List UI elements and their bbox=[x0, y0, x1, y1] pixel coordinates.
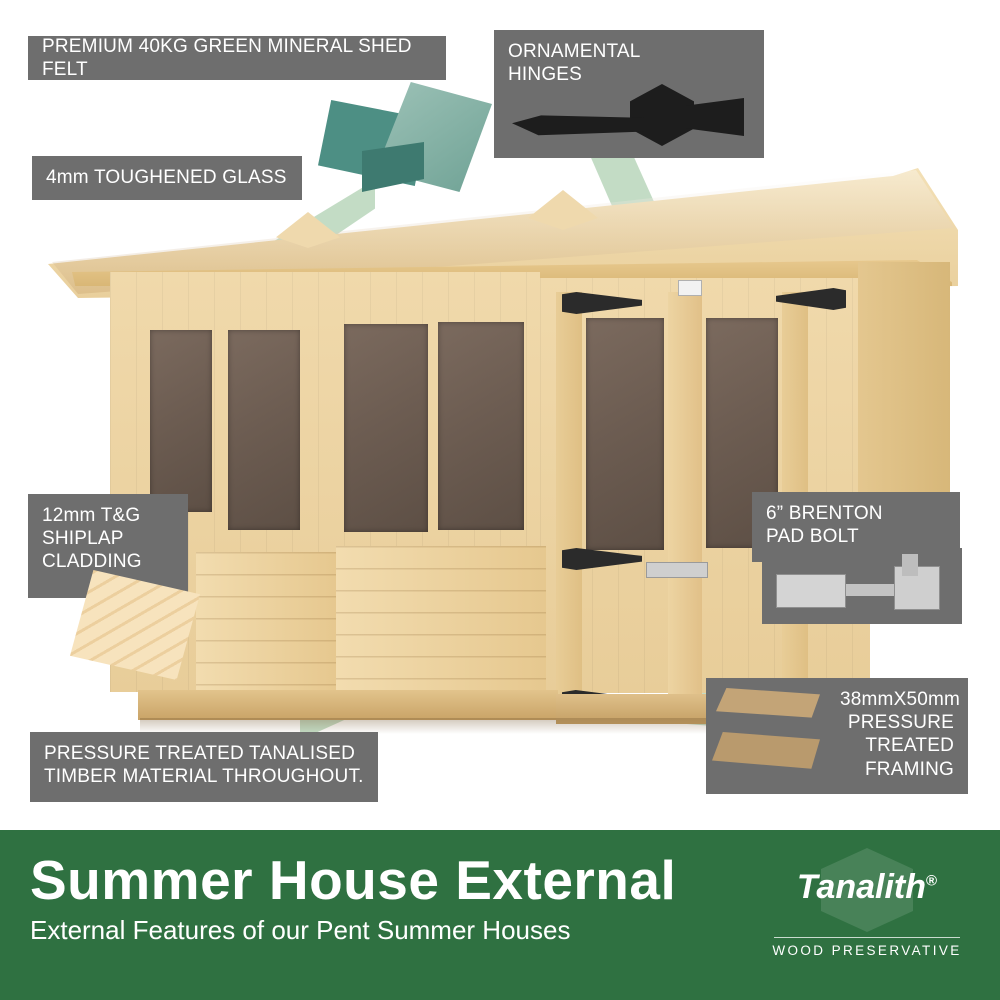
callout-felt: PREMIUM 40KG GREEN MINERAL SHED FELT bbox=[28, 36, 446, 80]
callout-treated-line2: TIMBER MATERIAL THROUGHOUT. bbox=[44, 765, 364, 788]
tanalith-divider bbox=[774, 937, 960, 938]
callout-hinges: ORNAMENTAL HINGES bbox=[494, 30, 764, 158]
shed-illustration: PREMIUM 40KG GREEN MINERAL SHED FELT ORN… bbox=[0, 0, 1000, 812]
lower-cladding-mid bbox=[336, 546, 546, 706]
cladding-board-image bbox=[70, 570, 200, 680]
floor-bearer-front bbox=[138, 690, 558, 720]
window-pane-4 bbox=[438, 322, 524, 530]
window-pane-3 bbox=[344, 324, 428, 532]
felt-roll-image bbox=[318, 82, 490, 194]
hinge-image bbox=[512, 80, 752, 152]
callout-padbolt-line2: PAD BOLT bbox=[766, 525, 946, 548]
callout-cladding-line2: SHIPLAP bbox=[42, 527, 174, 550]
framing-timber-image bbox=[710, 682, 822, 790]
tanalith-subtitle: WOOD PRESERVATIVE bbox=[762, 943, 972, 958]
callout-framing-line1: 38mmX50mm bbox=[840, 688, 954, 711]
door-stile-mid bbox=[668, 292, 702, 712]
door-pane-left bbox=[586, 318, 664, 550]
lower-cladding-front bbox=[196, 552, 336, 702]
tanalith-brand-name: Tanalith bbox=[797, 868, 926, 906]
banner-title: Summer House External bbox=[30, 852, 676, 909]
product-feature-diagram: PREMIUM 40KG GREEN MINERAL SHED FELT ORN… bbox=[0, 0, 1000, 1000]
tanalith-registered-mark: ® bbox=[926, 873, 937, 890]
door-stile-left bbox=[556, 292, 582, 712]
banner-subtitle: External Features of our Pent Summer Hou… bbox=[30, 915, 676, 946]
callout-framing-line3: TREATED FRAMING bbox=[840, 734, 954, 780]
callout-hinges-line1: ORNAMENTAL bbox=[508, 40, 750, 63]
banner-text-group: Summer House External External Features … bbox=[30, 852, 676, 946]
callout-glass: 4mm TOUGHENED GLASS bbox=[32, 156, 302, 200]
callout-cladding-line1: 12mm T&G bbox=[42, 504, 174, 527]
window-pane-1 bbox=[150, 330, 212, 512]
callout-treated-line1: PRESSURE TREATED TANALISED bbox=[44, 742, 364, 765]
callout-framing-line2: PRESSURE bbox=[840, 711, 954, 734]
latch-plate bbox=[678, 280, 702, 296]
tanalith-hex-icon: Tanalith® bbox=[762, 848, 972, 932]
pad-bolt-on-door bbox=[646, 562, 708, 578]
window-pane-2 bbox=[228, 330, 300, 530]
bottom-banner: Summer House External External Features … bbox=[0, 830, 1000, 1000]
callout-glass-label: 4mm TOUGHENED GLASS bbox=[46, 166, 287, 189]
callout-treated: PRESSURE TREATED TANALISED TIMBER MATERI… bbox=[30, 732, 378, 802]
callout-felt-label: PREMIUM 40KG GREEN MINERAL SHED FELT bbox=[42, 35, 432, 81]
tanalith-logo: Tanalith® WOOD PRESERVATIVE bbox=[762, 848, 972, 958]
pad-bolt-image bbox=[762, 548, 962, 624]
callout-padbolt-line1: 6” BRENTON bbox=[766, 502, 946, 525]
callout-framing: 38mmX50mm PRESSURE TREATED FRAMING bbox=[706, 678, 968, 794]
